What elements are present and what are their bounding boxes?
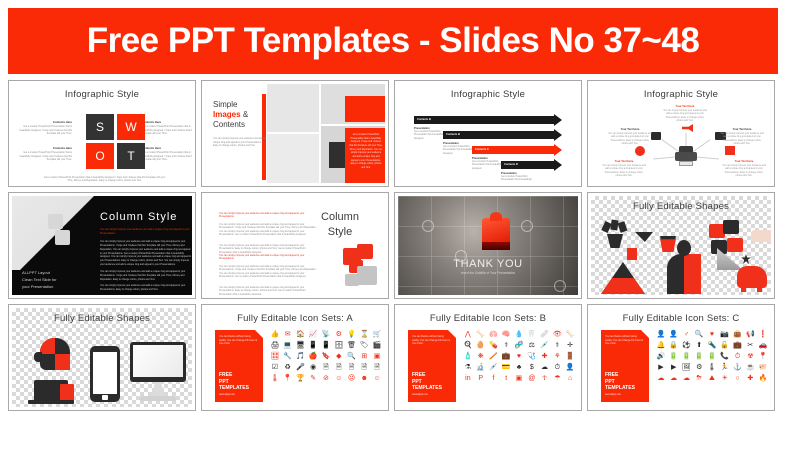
panel-top-text: You can Resize without losing quality. Y… [219, 335, 257, 346]
slide-canvas: Column Style You can simply impress your… [205, 196, 385, 295]
icon-video-icon: ▣ [513, 374, 525, 383]
red-accent-top [345, 96, 385, 122]
icon-microphone-icon: 🎤 [295, 363, 307, 372]
swot-cell-s: S [86, 114, 114, 140]
icon-plant-icon: ⚘ [551, 352, 563, 361]
icon-thumbs-up-icon: 👍 [269, 330, 281, 339]
icon-hourglass-icon: ⌛ [358, 330, 370, 339]
puzzle-person-right-icon [684, 254, 701, 294]
icon-timer-icon: ⏱ [551, 363, 563, 372]
puzzle-knob-4 [554, 280, 566, 292]
icon-search-icon: 🔍 [346, 352, 358, 361]
icon-thermometer-icon: 🌡 [269, 374, 281, 383]
icon-location-pin-icon: 📍 [757, 352, 769, 361]
slide-thumbnail-icon-sets-c[interactable]: Fully Editable Icon Sets: C You can Resi… [587, 304, 775, 411]
body-2: You can simply impress your audience and… [100, 270, 192, 282]
slide-title: Infographic Style [398, 89, 578, 100]
icon-linkedin-icon: in [462, 374, 474, 383]
body-1: You can simply impress your audience and… [100, 240, 192, 267]
icon-grid-a: 👍 ✉ 🏠 📈 📡 ⚙ 💡 ⌛ 🛒 🖨 💻 🖥 📱 📱 🗄 🗑 [269, 330, 383, 383]
slide-canvas: Fully Editable Icon Sets: B You can Resi… [398, 308, 578, 407]
arrow-down-icon [635, 232, 653, 242]
icon-unlock-icon: 🔓 [719, 341, 731, 350]
icon-flask-icon: ⚗ [462, 363, 474, 372]
monitor-screen-icon [133, 345, 183, 377]
icon-pig-icon: 🐖 [757, 363, 769, 372]
icon-ankh-icon: ☥ [539, 374, 551, 383]
icon-pan-icon: 🍳 [462, 341, 474, 350]
icon-cart-icon: 🛒 [371, 330, 383, 339]
slide-thumbnail-thank-you[interactable]: THANK YOU Insert the Subtitle of Your Pr… [394, 192, 582, 299]
icon-facebook-icon: f [488, 374, 500, 383]
icon-battery-3-icon: 🔋 [693, 352, 705, 361]
radial-node-upper-left: Your Text HereYou can simply impress you… [607, 128, 653, 147]
panel-brand: FREE PPT TEMPLATES [219, 372, 249, 391]
icon-magnifier-icon: 🔍 [693, 330, 705, 339]
icon-radiation-icon: ☢ [744, 352, 756, 361]
icon-credit-card-icon: 💳 [500, 363, 512, 372]
panel-top-text: You can Resize without losing quality. Y… [605, 335, 643, 346]
icon-document-1-icon: 🗎 [320, 363, 332, 372]
slide-thumbnail-simple-images[interactable]: Simple Images & Contents You can simply … [201, 80, 389, 187]
icon-exclamation-icon: ❗ [757, 330, 769, 339]
icon-pulse-icon: 🩺 [526, 352, 538, 361]
puzzle-piece-gray-2 [345, 274, 359, 286]
icon-spine-icon: 🦴 [564, 330, 576, 339]
slide-thumbnail-infographic-swot[interactable]: Infographic Style Contents HereGet a mod… [8, 80, 196, 187]
icon-home-icon: 🏠 [295, 330, 307, 339]
icon-at-icon: @ [526, 374, 538, 383]
icon-grid-b: ⋀ 🦴 🫁 🧠 💧 🦷 🩹 👁 🦴 🍳 🥚 💊 ⚕ 🧬 ⚖ 💉 [462, 330, 576, 383]
puzzle-knob-1 [422, 220, 434, 232]
icon-smiley-4-icon: ☺ [371, 374, 383, 383]
icon-bone-icon: ⋀ [462, 330, 474, 339]
card-fan-3-icon [618, 221, 628, 233]
icon-block-icon: ⊘ [320, 374, 332, 383]
slide-title: Fully Editable Icon Sets: B [398, 313, 578, 324]
icon-document-2-icon: 🗎 [333, 363, 345, 372]
monitor-stand-icon [151, 382, 165, 396]
templates-preview-page: Free PPT Templates - Slides No 37~48 Inf… [0, 8, 786, 453]
panel-url: www.allppt.com [412, 394, 428, 396]
panel-url: www.allppt.com [219, 394, 235, 396]
icon-heart-icon: ♥ [513, 352, 525, 361]
slide-canvas: Fully Editable Icon Sets: A You can Resi… [205, 308, 385, 407]
icon-bag-icon: 👜 [732, 330, 744, 339]
icon-cloud-1-icon: ☁ [655, 374, 667, 383]
brand-panel: You can Resize without losing quality. Y… [408, 330, 456, 402]
icon-document-5-icon: 🗎 [371, 363, 383, 372]
icon-camera-icon: 📷 [719, 330, 731, 339]
piggy-leg-1-icon [741, 284, 746, 292]
piggy-leg-2-icon [757, 284, 762, 292]
triangle-base-icon [601, 278, 645, 294]
icon-monitor-icon: 🖥 [295, 341, 307, 350]
icon-bulb-icon: 💡 [346, 330, 358, 339]
panel-brand: FREE PPT TEMPLATES [412, 372, 442, 391]
icon-cloud-2-icon: ☁ [668, 374, 680, 383]
panel-top-text: You can Resize without losing quality. Y… [412, 335, 450, 346]
radial-node-lower-left: Your Text HereYou can simply impress you… [601, 160, 647, 179]
icon-man-icon: 👤 [655, 330, 667, 339]
arrow-label-4: Contents D [504, 163, 518, 166]
icon-music-icon: 🎵 [295, 352, 307, 361]
icon-brain-icon: 🧠 [500, 330, 512, 339]
thank-you-title: THANK YOU [398, 258, 578, 270]
slide-canvas: Fully Editable Shapes [12, 308, 192, 407]
head-quadrant-1-icon [40, 338, 55, 354]
icon-bandage-icon: 🩹 [539, 330, 551, 339]
icon-medical-bag-icon: 💼 [500, 352, 512, 361]
brand-panel: You can Resize without losing quality. Y… [601, 330, 649, 402]
icon-plus-icon: ✚ [744, 374, 756, 383]
slide-thumbnail-editable-shapes-1[interactable]: Fully Editable Shapes [587, 192, 775, 299]
icon-syringe-icon: 💉 [539, 341, 551, 350]
puzzle-person-head-icon [677, 240, 691, 256]
icon-cross-icon: ✛ [564, 341, 576, 350]
body-3: You can simply impress your audience and… [100, 284, 192, 292]
icon-clover-icon: ♣ [513, 363, 525, 372]
headline-2: You can simply impress your audience and… [219, 254, 319, 261]
side-text: Get a modern PowerPoint Presentation tha… [349, 134, 383, 171]
arrow-label-2: Contents B [446, 133, 460, 136]
icon-trash-icon: 🗑 [346, 341, 358, 350]
icon-egg-icon: 🥚 [475, 341, 487, 350]
icon-pinterest-icon: P [475, 374, 487, 383]
icon-record-icon: ◉ [307, 363, 319, 372]
arrow-row-2: Contents B [443, 131, 562, 139]
icon-battery-2-icon: 🔋 [681, 352, 693, 361]
body-4: You can simply impress your audience and… [219, 286, 319, 295]
icon-grid-icon: ⊞ [358, 352, 370, 361]
icon-printer-icon: 🖨 [269, 341, 281, 350]
slide-title: Column Style [100, 211, 177, 223]
icon-anchor-icon: ⚓ [732, 363, 744, 372]
puzzle-float-4-icon [727, 238, 743, 252]
icon-user-icon: 👤 [564, 363, 576, 372]
icon-smiley-2-icon: ☹ [346, 374, 358, 383]
red-puzzle-piece-icon [476, 212, 516, 254]
icon-film-icon: 🎬 [371, 341, 383, 350]
headline-block: Simple Images & Contents You can simply … [213, 100, 265, 148]
photo-plants [267, 84, 319, 132]
icon-gear-icon: ⚙ [693, 363, 705, 372]
icon-bottle-icon: 🧴 [462, 352, 474, 361]
icon-chart-icon: 📈 [307, 330, 319, 339]
headline-1: You can simply impress your audience and… [219, 212, 319, 219]
slide-thumbnail-infographic-radial[interactable]: Infographic Style Your Text HereYou can … [587, 80, 775, 187]
arrow-row-1: Contents B [414, 116, 562, 124]
slide-canvas: THANK YOU Insert the Subtitle of Your Pr… [398, 196, 578, 295]
icon-play-circle-icon: ▶ [655, 363, 667, 372]
slides-grid: Infographic Style Contents HereGet a mod… [8, 80, 778, 411]
icon-tag-icon: 🏷 [358, 341, 370, 350]
photo-hands [267, 134, 319, 183]
icon-recycle-icon: ♻ [282, 363, 294, 372]
icon-dollar-icon: $ [526, 363, 538, 372]
icon-pencil-icon: ✎ [307, 374, 319, 383]
slide-canvas: Infographic Style Contents B Presentatio… [398, 84, 578, 183]
icon-image-icon: 🖼 [681, 363, 693, 372]
headline-line2: Images & [213, 110, 265, 120]
banner-title: Free PPT Templates - Slides No 37~48 [87, 21, 700, 61]
slide-canvas: Fully Editable Icon Sets: C You can Resi… [591, 308, 771, 407]
icon-trophy-icon: 🏆 [295, 374, 307, 383]
icon-pin-icon: 📍 [282, 374, 294, 383]
icon-flame-icon: 🔥 [757, 374, 769, 383]
icon-door-icon: 🚪 [564, 352, 576, 361]
icon-play-square-icon: ▶ [668, 363, 680, 372]
swot-label-o: Contents HereGet a modern PowerPoint Pre… [18, 146, 72, 162]
radial-node-top: Your Text HereYou can simply impress you… [662, 105, 708, 124]
body-2: You can simply impress your audience and… [219, 244, 319, 254]
puzzle-piece-1 [48, 214, 63, 229]
hand-icon [751, 230, 771, 242]
swot-label-s: Contents HereGet a modern PowerPoint Pre… [18, 120, 72, 136]
puzzle-knob-3 [521, 220, 533, 232]
icon-twitter-icon: t [500, 374, 512, 383]
icon-injection-icon: 💉 [488, 363, 500, 372]
icon-battery-4-icon: 🔋 [706, 352, 718, 361]
icon-document-3-icon: 🗎 [346, 363, 358, 372]
icon-tooth-icon: 🦷 [526, 330, 538, 339]
lifebuoy-icon [635, 146, 645, 156]
swot-cell-t: T [117, 143, 145, 169]
icon-ball-icon: ⚽ [681, 341, 693, 350]
arrow-label-1: Contents B [417, 118, 431, 121]
slide-title: Infographic Style [591, 89, 771, 100]
icon-mixer-icon: 🎛 [269, 352, 281, 361]
icon-battery-1-icon: 🔋 [668, 352, 680, 361]
icon-wrench-icon: 🔧 [282, 352, 294, 361]
icon-diamond-icon: ◆ [333, 352, 345, 361]
body-1: You can simply impress your audience and… [219, 223, 319, 237]
icon-speaker-icon: 🔊 [655, 352, 667, 361]
slide-thumbnail-icon-sets-b[interactable]: Fully Editable Icon Sets: B You can Resi… [394, 304, 582, 411]
icon-flashlight-icon: 🔦 [706, 341, 718, 350]
icon-medical-cross-icon: ⚕ [500, 341, 512, 350]
icon-woman-icon: 👤 [668, 330, 680, 339]
icon-pill-icon: 💊 [488, 341, 500, 350]
icon-apple-icon: 🍎 [307, 352, 319, 361]
icon-toothbrush-icon: 🪥 [488, 352, 500, 361]
arrow-row-4: Contents D [501, 161, 562, 169]
icon-tablet-icon: 📱 [320, 341, 332, 350]
headline-body: You can simply impress your audience and… [213, 137, 265, 148]
icon-bell-icon: 🔔 [655, 341, 667, 350]
icon-server-icon: 🗄 [333, 341, 345, 350]
icon-mountain-icon: ⛰ [706, 374, 718, 383]
arrow-row-3: Contents C [472, 146, 562, 154]
icon-male-symbol-icon: ♂ [681, 330, 693, 339]
icon-window-icon: ▣ [371, 352, 383, 361]
slide-title: Infographic Style [12, 89, 192, 100]
puzzle-float-2-icon [723, 220, 739, 234]
swot-label-w: Contents HereGet a modern PowerPoint Pre… [142, 120, 192, 136]
icon-microscope-icon: 🔬 [475, 363, 487, 372]
icon-runner-icon: 🏃 [719, 363, 731, 372]
slide-title: Fully Editable Icon Sets: A [205, 313, 385, 324]
icon-mail-icon: ✉ [282, 330, 294, 339]
puzzle-piece-gray-1 [357, 266, 377, 285]
slide-thumbnail-editable-shapes-2[interactable]: Fully Editable Shapes [8, 304, 196, 411]
icon-phone-icon: 📱 [307, 341, 319, 350]
radial-node-upper-right: Your Text HereYou can simply impress you… [719, 128, 765, 147]
slide-title: Fully Editable Icon Sets: C [591, 313, 771, 324]
icon-cloud-icon: ☁ [539, 363, 551, 372]
thank-you-subtitle: Insert the Subtitle of Your Presentation [398, 271, 578, 275]
headline-amp: & [243, 110, 248, 119]
slide-canvas: Column Style You can simply impress your… [12, 196, 192, 295]
icon-grid-c: 👤 👤 ♂ 🔍 ♥ 📷 👜 📢 ❗ 🔔 🔒 ⚽ ⬆ 🔦 🔓 💼 [655, 330, 769, 383]
brand-panel: You can Resize without losing quality. Y… [215, 330, 263, 402]
headline-images-word: Images [213, 110, 241, 119]
slide-canvas: Infographic Style Your Text HereYou can … [591, 84, 771, 183]
headline: You can simply impress your audience and… [100, 228, 192, 236]
icon-scissors-icon: ✂ [744, 341, 756, 350]
icon-heart-icon: ♥ [706, 330, 718, 339]
headline-line1: Simple [213, 100, 265, 110]
head-ear-icon [34, 352, 42, 362]
slide-thumbnail-icon-sets-a[interactable]: Fully Editable Icon Sets: A You can Resi… [201, 304, 389, 411]
icon-eye-icon: 👁 [551, 330, 563, 339]
laptop-base-icon [28, 400, 74, 404]
icon-megaphone-icon: 📢 [744, 330, 756, 339]
megaphone-icon [682, 124, 693, 132]
swot-matrix: S W O T [86, 114, 146, 170]
icon-virus-icon: ❋ [475, 352, 487, 361]
icon-briefcase-icon: 💼 [732, 341, 744, 350]
swot-cell-o: O [86, 143, 114, 169]
icon-lungs-icon: 🫁 [488, 330, 500, 339]
coin-sparkle-icon [741, 254, 751, 264]
icon-stethoscope-icon: ⚕ [551, 341, 563, 350]
icon-cup-icon: ☕ [744, 363, 756, 372]
icon-checkbox-icon: ☑ [269, 363, 281, 372]
icon-first-aid-icon: ✚ [539, 352, 551, 361]
icon-storm-icon: ⛈ [693, 374, 705, 383]
icon-car-icon: 🚗 [757, 341, 769, 350]
hand-pointer-icon [627, 248, 637, 260]
body-3: You can simply impress your audience and… [219, 265, 319, 279]
icon-cloud-3-icon: ☁ [681, 374, 693, 383]
panel-brand: FREE PPT TEMPLATES [605, 372, 635, 391]
icon-telephone-icon: 📞 [719, 352, 731, 361]
header-banner: Free PPT Templates - Slides No 37~48 [8, 8, 778, 74]
smartphone-home-button-icon [102, 395, 108, 400]
headline-line3: Contents [213, 120, 265, 130]
icon-circle-icon: ○ [732, 374, 744, 383]
bucket-1-icon [607, 234, 623, 248]
slide-title: Fully Editable Shapes [591, 201, 771, 212]
slide-canvas: Infographic Style Contents HereGet a mod… [12, 84, 192, 183]
icon-blood-drop-icon: 💧 [513, 330, 525, 339]
slide-title: Fully Editable Shapes [12, 313, 192, 324]
icon-smiley-3-icon: ☻ [358, 374, 370, 383]
icon-femur-icon: 🦴 [475, 330, 487, 339]
bottom-caption: ALLPPT Layout Clean Text Slide for your … [22, 270, 92, 290]
head-quadrant-2-icon [55, 354, 70, 370]
swot-label-t: Contents HereGet a modern PowerPoint Pre… [142, 146, 192, 162]
puzzle-piece-red-2 [357, 244, 373, 259]
icon-dna-icon: 🧬 [513, 341, 525, 350]
smartphone-screen-icon [93, 352, 117, 394]
icon-smiley-1-icon: ☺ [333, 374, 345, 383]
gift-icon [725, 146, 735, 155]
printer-icon [675, 146, 697, 166]
icon-signal-icon: 📡 [320, 330, 332, 339]
icon-house-icon: ⌂ [564, 374, 576, 383]
slide-canvas: Simple Images & Contents You can simply … [205, 84, 385, 183]
slide-thumbnail-column-style-dark[interactable]: Column Style You can simply impress your… [8, 192, 196, 299]
icon-lock-icon: 🔒 [668, 341, 680, 350]
icon-stopwatch-icon: ⏱ [732, 352, 744, 361]
icon-gear-icon: ⚙ [333, 330, 345, 339]
slide-thumbnail-infographic-arrows[interactable]: Infographic Style Contents B Presentatio… [394, 80, 582, 187]
arrow-label-3: Contents C [475, 148, 489, 151]
icon-scale-icon: ⚖ [526, 341, 538, 350]
icon-bookmark-icon: 🔖 [320, 352, 332, 361]
slide-canvas: Fully Editable Shapes [591, 196, 771, 295]
icon-arrow-up-icon: ⬆ [693, 341, 705, 350]
icon-document-4-icon: 🗎 [358, 363, 370, 372]
puzzle-piece-2 [55, 230, 70, 245]
swot-cell-w: W [117, 114, 145, 140]
panel-url: www.allppt.com [605, 394, 621, 396]
icon-sun-icon: ☀ [719, 374, 731, 383]
swot-footnote: Get a modern PowerPoint Presentation tha… [42, 176, 167, 183]
radial-node-lower-right: Your Text HereYou can simply impress you… [721, 160, 767, 179]
slide-thumbnail-column-style-light[interactable]: Column Style You can simply impress your… [201, 192, 389, 299]
monitor-base-icon [140, 396, 176, 401]
arrow-text-4: PresentationGet a modern PowerPoint Pres… [501, 172, 537, 183]
icon-laptop-icon: 💻 [282, 341, 294, 350]
icon-umbrella-icon: ☂ [551, 374, 563, 383]
icon-thermometer-icon: 🌡 [706, 363, 718, 372]
